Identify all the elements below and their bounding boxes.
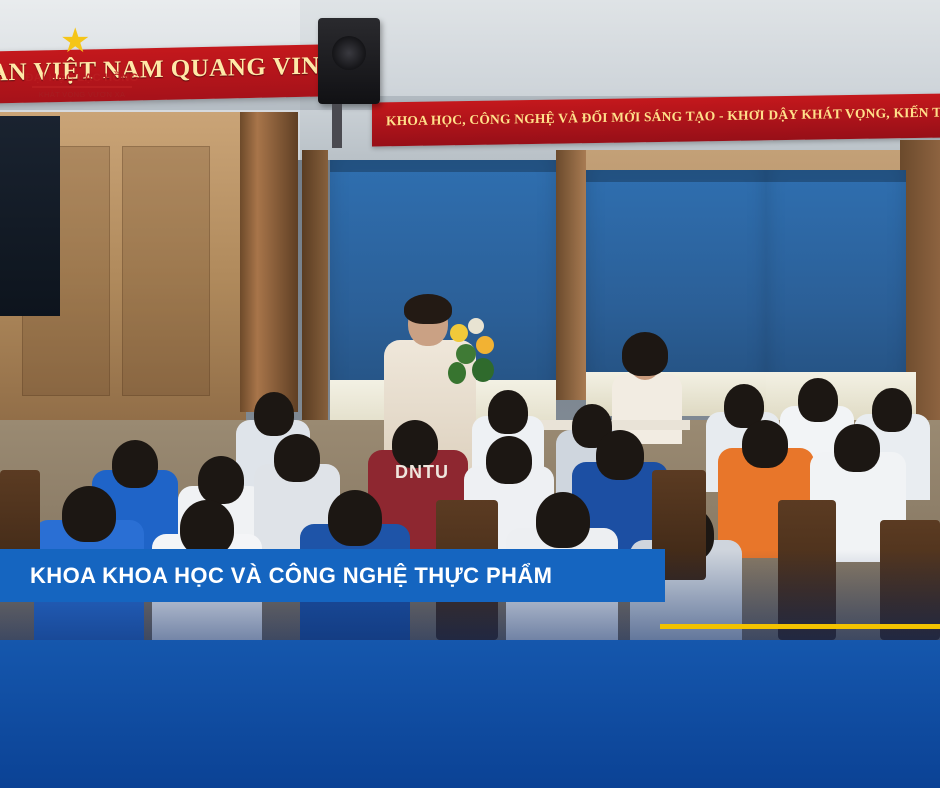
attendee-head (392, 420, 438, 468)
attendee-head (872, 388, 912, 432)
attendee-head (328, 490, 382, 546)
projection-screen (0, 116, 60, 316)
attendee-head (274, 434, 320, 482)
logo-name: ĐẠI HỌC LẠC HỒNG (18, 72, 146, 84)
seated-staff-hair (622, 332, 668, 376)
wood-column-2 (302, 150, 328, 430)
attendee-head (180, 500, 234, 556)
attendee-head (798, 378, 838, 422)
logo-divider (32, 86, 132, 88)
attendee-head (198, 456, 244, 504)
star-icon: ★ (60, 24, 90, 58)
event-photo: AN VIỆT NAM QUANG VINH MUÔN N KHOA HỌC, … (0, 0, 940, 640)
accent-line (660, 624, 940, 629)
loudspeaker-mount (332, 104, 342, 148)
attendee-head (834, 424, 880, 472)
attendee-head (112, 440, 158, 488)
wood-column-3 (556, 150, 586, 400)
attendee-head (254, 392, 294, 436)
loudspeaker-icon (318, 18, 380, 104)
department-name: KHOA KHOA HỌC VÀ CÔNG NGHỆ THỰC PHẨM (30, 563, 552, 589)
presenter-hair (404, 294, 452, 324)
wall-banner-right-text: KHOA HỌC, CÔNG NGHỆ VÀ ĐỔI MỚI SÁNG TẠO … (386, 103, 940, 129)
flower-bouquet-icon (446, 318, 502, 390)
bottom-band (0, 640, 940, 788)
attendee-head (742, 420, 788, 468)
attendee-head (536, 492, 590, 548)
jacket-text: DNTU (390, 462, 454, 483)
university-logo: ★ ĐẠI HỌC LẠC HỒNG KHÁT VỌNG VƯƠN XA (18, 24, 146, 116)
attendee-head (596, 430, 644, 480)
department-bar: KHOA KHOA HỌC VÀ CÔNG NGHỆ THỰC PHẨM (0, 549, 665, 602)
wall-banner-right: KHOA HỌC, CÔNG NGHỆ VÀ ĐỔI MỚI SÁNG TẠO … (372, 93, 940, 146)
blue-curtain-3 (766, 170, 906, 400)
attendee-head (62, 486, 116, 542)
attendee-head (486, 436, 532, 484)
poster: AN VIỆT NAM QUANG VINH MUÔN N KHOA HỌC, … (0, 0, 940, 788)
attendee-head (488, 390, 528, 434)
logo-tagline: KHÁT VỌNG VƯƠN XA (18, 90, 146, 99)
blue-curtain-2 (586, 170, 766, 400)
wood-column-1 (240, 112, 298, 412)
